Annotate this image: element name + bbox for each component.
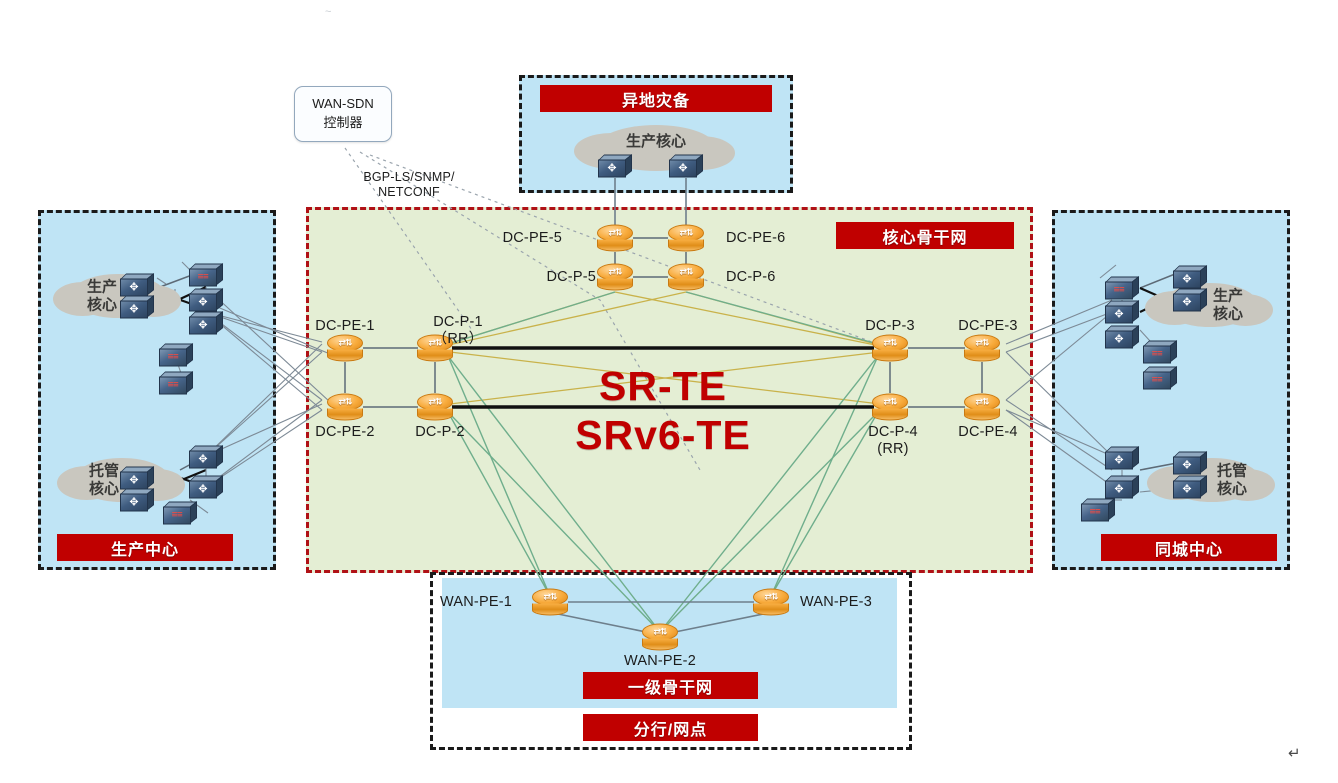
switch-node[interactable]: ✥ <box>120 274 154 297</box>
node-front-face: ✥ <box>1105 481 1133 499</box>
node-front-face: ✥ <box>1105 452 1133 470</box>
node-front-face: ✥ <box>1173 457 1201 475</box>
router-arrows-icon: ⇄⇅ <box>872 336 908 352</box>
router-arrows-icon: ⇄⇅ <box>327 395 363 411</box>
switch-node[interactable]: ✥ <box>598 155 632 178</box>
switch-arrows-icon: ✥ <box>198 454 207 465</box>
router-arrows-icon: ⇄⇅ <box>417 395 453 411</box>
firewall-node[interactable]: ≡≡ <box>1105 277 1139 300</box>
router-arrows-icon: ⇄⇅ <box>642 625 678 641</box>
firewall-node[interactable]: ≡≡ <box>159 372 193 395</box>
switch-node[interactable]: ✥ <box>120 296 154 319</box>
banner-text: 异地灾备 <box>622 87 690 111</box>
srte-text: SR-TE <box>599 363 727 409</box>
node-front-face: ≡≡ <box>159 377 187 395</box>
node-front-face: ≡≡ <box>189 269 217 287</box>
router-label-main: DC-PE-6 <box>726 230 785 247</box>
top-artifact: ~ <box>325 6 331 18</box>
router-label-sub: (RR) <box>868 441 918 458</box>
banner-text: 核心骨干网 <box>882 224 967 248</box>
router-arrows-icon: ⇄⇅ <box>532 590 568 606</box>
router-label-main: DC-P-1 <box>433 314 484 331</box>
firewall-node[interactable]: ≡≡ <box>189 264 223 287</box>
firewall-icon: ≡≡ <box>172 511 183 521</box>
cloud-text: 生产核心 <box>626 133 686 150</box>
router-label-main: DC-P-4 <box>868 424 918 441</box>
node-side-face <box>190 501 197 523</box>
router-dc-pe-6[interactable]: ⇄⇅ <box>668 225 704 252</box>
node-front-face: ✥ <box>598 160 626 178</box>
router-wan-pe-2[interactable]: ⇄⇅ <box>642 624 678 651</box>
router-label-dc-pe-1: DC-PE-1 <box>315 318 374 335</box>
node-front-face: ✥ <box>120 472 148 490</box>
node-side-face <box>216 475 223 497</box>
node-side-face <box>1200 265 1207 287</box>
cloud-text-line2: 核心 <box>87 296 117 314</box>
router-label-dc-pe-2: DC-PE-2 <box>315 424 374 441</box>
cloud-text-line1: 托管 <box>89 462 119 480</box>
switch-arrows-icon: ✥ <box>198 297 207 308</box>
node-front-face: ✥ <box>1173 271 1201 289</box>
node-side-face <box>1132 276 1139 298</box>
switch-node[interactable]: ✥ <box>189 289 223 312</box>
switch-node[interactable]: ✥ <box>1173 476 1207 499</box>
switch-node[interactable]: ✥ <box>1105 476 1139 499</box>
switch-node[interactable]: ✥ <box>189 476 223 499</box>
router-label-main: WAN-PE-1 <box>440 594 512 611</box>
switch-arrows-icon: ✥ <box>129 282 138 293</box>
switch-node[interactable]: ✥ <box>1173 266 1207 289</box>
router-label-dc-pe-3: DC-PE-3 <box>958 318 1017 335</box>
srv6te-text: SRv6-TE <box>575 412 751 458</box>
switch-node[interactable]: ✥ <box>189 312 223 335</box>
node-side-face <box>1132 325 1139 347</box>
node-side-face <box>1132 446 1139 468</box>
node-front-face: ✥ <box>189 317 217 335</box>
router-label-main: WAN-PE-2 <box>624 653 696 670</box>
switch-node[interactable]: ✥ <box>1173 452 1207 475</box>
node-front-face: ✥ <box>1173 481 1201 499</box>
router-dc-pe-1[interactable]: ⇄⇅ <box>327 335 363 362</box>
controller-title: WAN-SDN <box>312 95 374 114</box>
node-front-face: ✥ <box>1173 294 1201 312</box>
node-front-face: ✥ <box>120 279 148 297</box>
cloud-text-line1: 生产 <box>87 278 117 296</box>
switch-node[interactable]: ✥ <box>1105 447 1139 470</box>
zone-production-center <box>38 210 276 570</box>
router-arrows-icon: ⇄⇅ <box>668 226 704 242</box>
router-label-dc-p-5: DC-P-5 <box>546 269 596 286</box>
cloud-text-line2: 核心 <box>89 480 119 498</box>
node-side-face <box>147 273 154 295</box>
switch-arrows-icon: ✥ <box>198 484 207 495</box>
router-label-dc-p-6: DC-P-6 <box>726 269 776 286</box>
router-arrows-icon: ⇄⇅ <box>753 590 789 606</box>
router-label-sub: （RR） <box>433 331 484 348</box>
switch-node[interactable]: ✥ <box>669 155 703 178</box>
router-label-main: DC-P-5 <box>546 269 596 286</box>
banner-metro-center: 同城中心 <box>1101 534 1277 561</box>
router-label-main: DC-PE-3 <box>958 318 1017 335</box>
node-side-face <box>1200 451 1207 473</box>
banner-text: 生产中心 <box>111 536 179 560</box>
node-front-face: ≡≡ <box>1081 504 1109 522</box>
router-arrows-icon: ⇄⇅ <box>872 395 908 411</box>
return-mark: ↵ <box>1288 744 1301 762</box>
node-side-face <box>216 263 223 285</box>
cloud-text-line2: 核心 <box>1213 305 1243 323</box>
protocol-line2: NETCONF <box>363 185 454 200</box>
banner-core-backbone: 核心骨干网 <box>836 222 1014 249</box>
router-dc-pe-3[interactable]: ⇄⇅ <box>964 335 1000 362</box>
node-front-face: ✥ <box>120 301 148 319</box>
switch-arrows-icon: ✥ <box>198 320 207 331</box>
diagram-canvas: .g{stroke:#6fae8c;stroke-width:1.4;fill:… <box>0 0 1338 783</box>
switch-arrows-icon: ✥ <box>607 163 616 174</box>
router-wan-pe-3[interactable]: ⇄⇅ <box>753 589 789 616</box>
switch-node[interactable]: ✥ <box>120 467 154 490</box>
node-front-face: ≡≡ <box>1143 346 1171 364</box>
node-front-face: ✥ <box>189 451 217 469</box>
switch-arrows-icon: ✥ <box>1182 297 1191 308</box>
firewall-icon: ≡≡ <box>168 381 179 391</box>
banner-branch-outlet: 分行/网点 <box>583 714 758 741</box>
node-front-face: ✥ <box>189 294 217 312</box>
node-side-face <box>1170 340 1177 362</box>
router-arrows-icon: ⇄⇅ <box>597 226 633 242</box>
router-arrows-icon: ⇄⇅ <box>327 336 363 352</box>
srte-label-1: SR-TE <box>599 363 727 410</box>
srte-label-2: SRv6-TE <box>575 412 751 459</box>
router-label-dc-p-4: DC-P-4(RR) <box>868 424 918 458</box>
router-label-dc-pe-4: DC-PE-4 <box>958 424 1017 441</box>
router-dc-p-2[interactable]: ⇄⇅ <box>417 394 453 421</box>
node-front-face: ≡≡ <box>1105 282 1133 300</box>
router-arrows-icon: ⇄⇅ <box>597 265 633 281</box>
switch-arrows-icon: ✥ <box>1114 484 1123 495</box>
router-dc-p-5[interactable]: ⇄⇅ <box>597 264 633 291</box>
switch-node[interactable]: ✥ <box>189 446 223 469</box>
switch-node[interactable]: ✥ <box>1105 301 1139 324</box>
cloud-text-line1: 生产 <box>1213 287 1243 305</box>
banner-remote-dr: 异地灾备 <box>540 85 772 112</box>
router-dc-pe-2[interactable]: ⇄⇅ <box>327 394 363 421</box>
switch-arrows-icon: ✥ <box>678 163 687 174</box>
node-front-face: ≡≡ <box>1143 372 1171 390</box>
firewall-icon: ≡≡ <box>198 273 209 283</box>
node-side-face <box>1200 475 1207 497</box>
banner-production-center: 生产中心 <box>57 534 233 561</box>
controller-subtitle: 控制器 <box>323 114 362 133</box>
switch-arrows-icon: ✥ <box>129 475 138 486</box>
switch-arrows-icon: ✥ <box>1114 334 1123 345</box>
router-label-wan-pe-1: WAN-PE-1 <box>440 594 512 611</box>
firewall-node[interactable]: ≡≡ <box>1143 367 1177 390</box>
node-side-face <box>147 466 154 488</box>
router-label-main: DC-PE-2 <box>315 424 374 441</box>
banner-text: 一级骨干网 <box>628 674 713 698</box>
router-arrows-icon: ⇄⇅ <box>964 336 1000 352</box>
cloud-label-hosting-right: 托管 核心 <box>1217 462 1247 497</box>
node-side-face <box>147 488 154 510</box>
firewall-node[interactable]: ≡≡ <box>159 344 193 367</box>
node-side-face <box>1132 475 1139 497</box>
cloud-text-line2: 核心 <box>1217 480 1247 498</box>
node-side-face <box>216 288 223 310</box>
router-wan-pe-1[interactable]: ⇄⇅ <box>532 589 568 616</box>
node-side-face <box>1108 498 1115 520</box>
node-front-face: ✥ <box>669 160 697 178</box>
node-side-face <box>216 445 223 467</box>
node-side-face <box>186 343 193 365</box>
wan-sdn-controller[interactable]: WAN-SDN 控制器 <box>294 86 392 142</box>
router-label-main: DC-PE-4 <box>958 424 1017 441</box>
router-dc-p-3[interactable]: ⇄⇅ <box>872 335 908 362</box>
switch-node[interactable]: ✥ <box>120 489 154 512</box>
node-front-face: ✥ <box>1105 306 1133 324</box>
node-front-face: ≡≡ <box>159 349 187 367</box>
node-side-face <box>216 311 223 333</box>
firewall-node[interactable]: ≡≡ <box>163 502 197 525</box>
firewall-icon: ≡≡ <box>1152 350 1163 360</box>
router-label-dc-pe-5: DC-PE-5 <box>503 230 562 247</box>
node-front-face: ✥ <box>189 481 217 499</box>
banner-primary-backbone: 一级骨干网 <box>583 672 758 699</box>
switch-arrows-icon: ✥ <box>1182 460 1191 471</box>
router-arrows-icon: ⇄⇅ <box>964 395 1000 411</box>
router-label-wan-pe-2: WAN-PE-2 <box>624 653 696 670</box>
router-dc-p-4[interactable]: ⇄⇅ <box>872 394 908 421</box>
switch-arrows-icon: ✥ <box>1114 455 1123 466</box>
firewall-node[interactable]: ≡≡ <box>1143 341 1177 364</box>
router-label-main: WAN-PE-3 <box>800 594 872 611</box>
node-side-face <box>186 371 193 393</box>
node-side-face <box>1132 300 1139 322</box>
node-side-face <box>1170 366 1177 388</box>
router-label-main: DC-PE-1 <box>315 318 374 335</box>
node-side-face <box>147 295 154 317</box>
switch-arrows-icon: ✥ <box>129 497 138 508</box>
banner-text: 同城中心 <box>1155 536 1223 560</box>
protocol-line1: BGP-LS/SNMP/ <box>363 170 454 185</box>
router-label-dc-p-3: DC-P-3 <box>865 318 915 335</box>
node-front-face: ≡≡ <box>163 507 191 525</box>
node-side-face <box>1200 288 1207 310</box>
router-label-wan-pe-3: WAN-PE-3 <box>800 594 872 611</box>
node-front-face: ✥ <box>1105 331 1133 349</box>
switch-arrows-icon: ✥ <box>129 304 138 315</box>
node-side-face <box>625 154 632 176</box>
switch-arrows-icon: ✥ <box>1114 309 1123 320</box>
router-label-dc-pe-6: DC-PE-6 <box>726 230 785 247</box>
router-dc-p-6[interactable]: ⇄⇅ <box>668 264 704 291</box>
router-label-main: DC-P-2 <box>415 424 465 441</box>
switch-arrows-icon: ✥ <box>1182 274 1191 285</box>
switch-arrows-icon: ✥ <box>1182 484 1191 495</box>
return-glyph: ↵ <box>1288 745 1301 762</box>
controller-protocol-label: BGP-LS/SNMP/ NETCONF <box>363 170 454 200</box>
firewall-icon: ≡≡ <box>1090 508 1101 518</box>
cloud-label-remote-dr: 生产核心 <box>626 133 686 151</box>
node-front-face: ✥ <box>120 494 148 512</box>
banner-text: 分行/网点 <box>634 716 707 740</box>
router-dc-pe-4[interactable]: ⇄⇅ <box>964 394 1000 421</box>
firewall-icon: ≡≡ <box>1152 376 1163 386</box>
router-arrows-icon: ⇄⇅ <box>668 265 704 281</box>
firewall-node[interactable]: ≡≡ <box>1081 499 1115 522</box>
router-label-main: DC-PE-5 <box>503 230 562 247</box>
router-label-dc-p-1: DC-P-1（RR） <box>433 314 484 348</box>
cloud-label-production-right: 生产 核心 <box>1213 287 1243 322</box>
firewall-icon: ≡≡ <box>1114 286 1125 296</box>
switch-node[interactable]: ✥ <box>1173 289 1207 312</box>
router-label-main: DC-P-3 <box>865 318 915 335</box>
cloud-text-line1: 托管 <box>1217 462 1247 480</box>
router-label-dc-p-2: DC-P-2 <box>415 424 465 441</box>
cloud-label-production-left: 生产 核心 <box>87 278 117 313</box>
firewall-icon: ≡≡ <box>168 353 179 363</box>
router-dc-pe-5[interactable]: ⇄⇅ <box>597 225 633 252</box>
node-side-face <box>696 154 703 176</box>
switch-node[interactable]: ✥ <box>1105 326 1139 349</box>
cloud-label-hosting-left: 托管 核心 <box>89 462 119 497</box>
router-label-main: DC-P-6 <box>726 269 776 286</box>
